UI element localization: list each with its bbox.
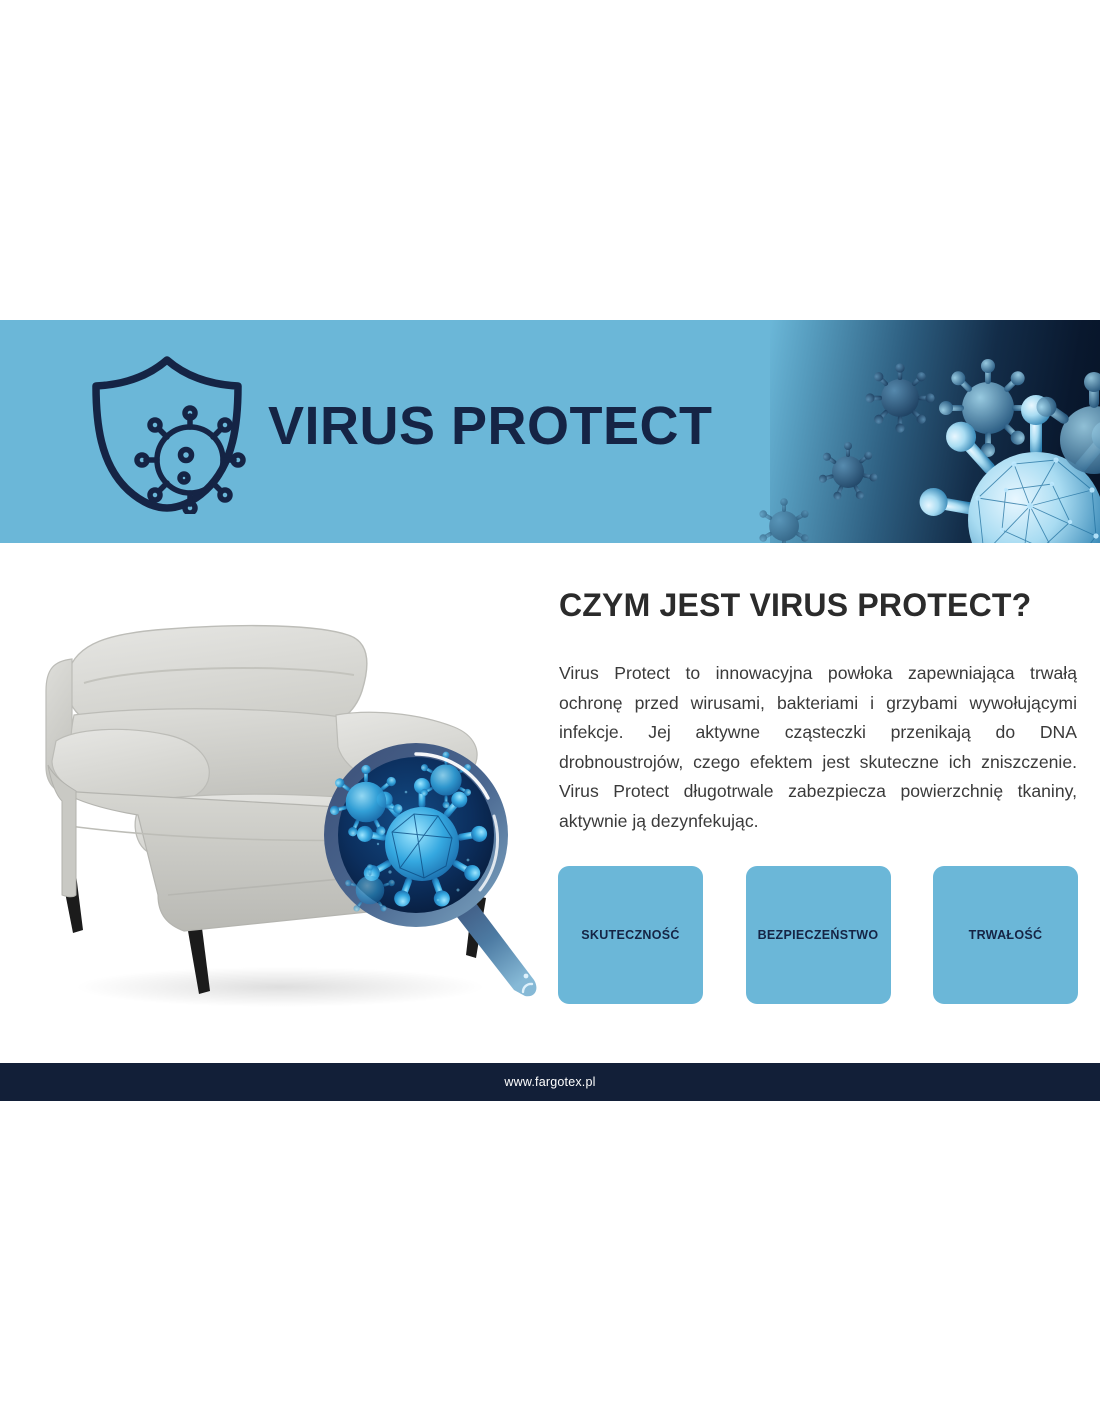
feature-box-trwalosc[interactable]: TRWAŁOŚĆ [933, 866, 1078, 1004]
product-photo [18, 595, 546, 1025]
virus-particle-small [818, 442, 878, 501]
banner-title: VIRUS PROTECT [268, 399, 713, 453]
virus-particle-small [865, 363, 934, 432]
virus-particle-small [758, 498, 810, 543]
footer-website-url[interactable]: www.fargotex.pl [504, 1075, 595, 1089]
poster-page: VIRUS PROTECT [0, 0, 1100, 1422]
footer-bar: www.fargotex.pl [0, 1063, 1100, 1101]
feature-label: SKUTECZNOŚĆ [575, 928, 685, 943]
feature-label: TRWAŁOŚĆ [963, 928, 1049, 943]
description-paragraph: Virus Protect to innowacyjna powłoka zap… [559, 659, 1077, 836]
magnifier-virus-icon [318, 740, 558, 1005]
page-title: CZYM JEST VIRUS PROTECT? [559, 588, 1079, 624]
feature-box-skutecznosc[interactable]: SKUTECZNOŚĆ [558, 866, 703, 1004]
feature-label: BEZPIECZEŃSTWO [752, 928, 885, 943]
feature-box-group: SKUTECZNOŚĆ BEZPIECZEŃSTWO TRWAŁOŚĆ [558, 866, 1078, 1004]
feature-box-bezpieczenstwo[interactable]: BEZPIECZEŃSTWO [746, 866, 891, 1004]
shield-virus-icon [82, 352, 252, 514]
